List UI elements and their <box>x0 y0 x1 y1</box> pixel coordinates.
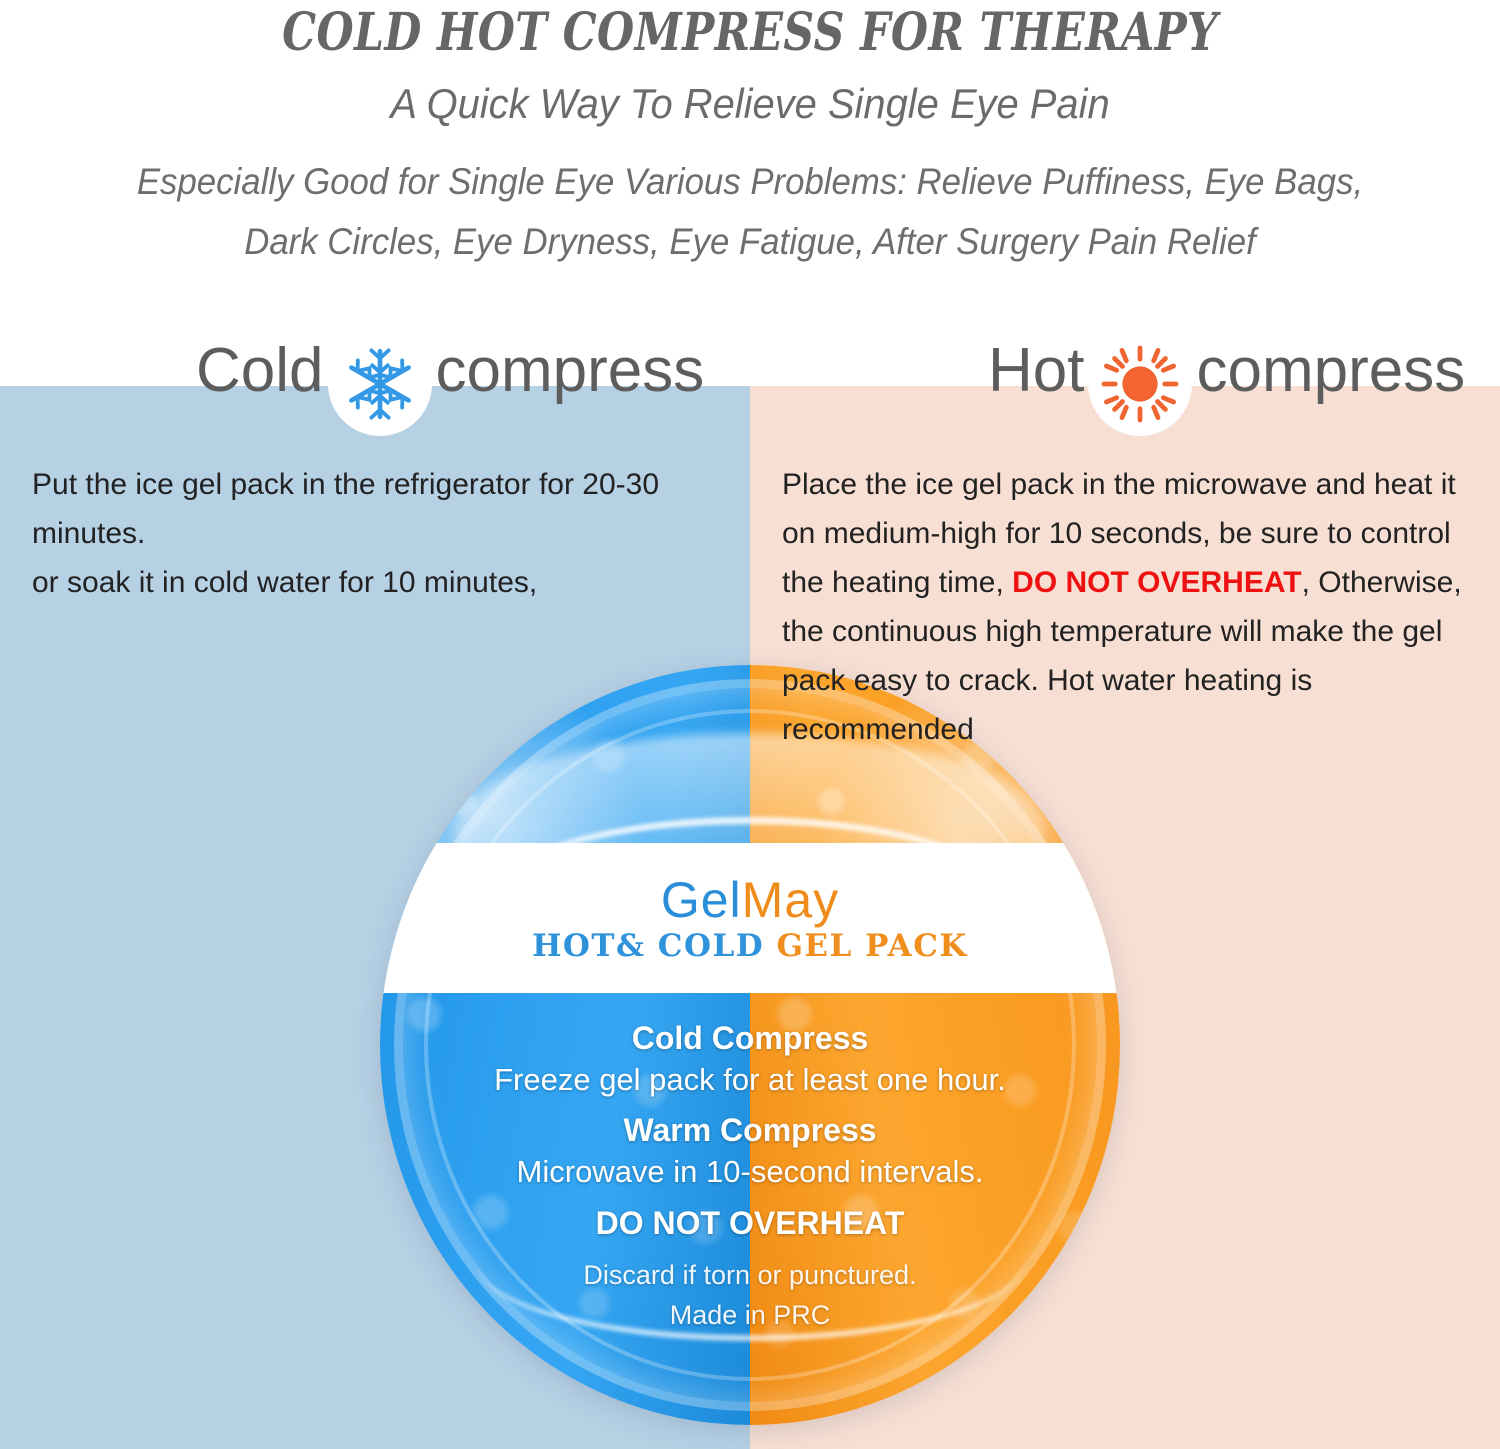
pack-warm-block: Warm Compress Microwave in 10-second int… <box>380 1109 1120 1193</box>
brand-name-part-1: Gel <box>661 872 742 928</box>
cold-heading-label-before: Cold <box>196 335 324 406</box>
pack-cold-block: Cold Compress Freeze gel pack for at lea… <box>380 1017 1120 1101</box>
brand-subtitle: HOT& COLD GEL PACK <box>532 931 968 962</box>
page-subtitle: A Quick Way To Relieve Single Eye Pain <box>38 80 1463 128</box>
cold-instruction-line-2: or soak it in cold water for 10 minutes, <box>32 558 732 607</box>
brand-subtitle-part-1: HOT& COLD <box>532 928 764 964</box>
hot-instructions: Place the ice gel pack in the microwave … <box>782 460 1488 754</box>
hot-instruction-warning: DO NOT OVERHEAT <box>1012 566 1301 599</box>
pack-warm-heading: Warm Compress <box>380 1109 1120 1151</box>
gel-pack-label-band: GelMay HOT& COLD GEL PACK <box>380 843 1120 993</box>
page-title: COLD HOT COMPRESS FOR THERAPY <box>135 2 1365 63</box>
pack-cold-line: Freeze gel pack for at least one hour. <box>380 1059 1120 1101</box>
gel-pack-product-image: GelMay HOT& COLD GEL PACK Cold Compress … <box>380 665 1120 1425</box>
cold-instruction-line-1: Put the ice gel pack in the refrigerator… <box>32 460 732 558</box>
snowflake-icon <box>328 332 432 436</box>
brand-name: GelMay <box>661 875 839 925</box>
sun-icon <box>1088 332 1192 436</box>
gel-pack-printed-instructions: Cold Compress Freeze gel pack for at lea… <box>380 1017 1120 1245</box>
pack-footer-line-2: Made in PRC <box>380 1295 1120 1335</box>
hot-heading-label-before: Hot <box>988 335 1084 406</box>
cold-heading-label-after: compress <box>436 335 705 406</box>
cold-compress-heading: Cold <box>196 318 704 422</box>
hot-compress-heading: Hot compress <box>988 318 1465 422</box>
hot-heading-label-after: compress <box>1196 335 1465 406</box>
brand-name-part-2: May <box>742 872 839 928</box>
cold-instructions: Put the ice gel pack in the refrigerator… <box>32 460 732 607</box>
pack-warm-line: Microwave in 10-second intervals. <box>380 1151 1120 1193</box>
pack-overheat-warning: DO NOT OVERHEAT <box>380 1201 1120 1245</box>
gel-pack-body: GelMay HOT& COLD GEL PACK Cold Compress … <box>380 665 1120 1425</box>
brand-subtitle-part-2: GEL PACK <box>776 928 967 964</box>
pack-footer-line-1: Discard if torn or punctured. <box>380 1255 1120 1295</box>
gel-pack-printed-footer: Discard if torn or punctured. Made in PR… <box>380 1255 1120 1335</box>
pack-cold-heading: Cold Compress <box>380 1017 1120 1059</box>
page-description: Especially Good for Single Eye Various P… <box>125 152 1375 272</box>
